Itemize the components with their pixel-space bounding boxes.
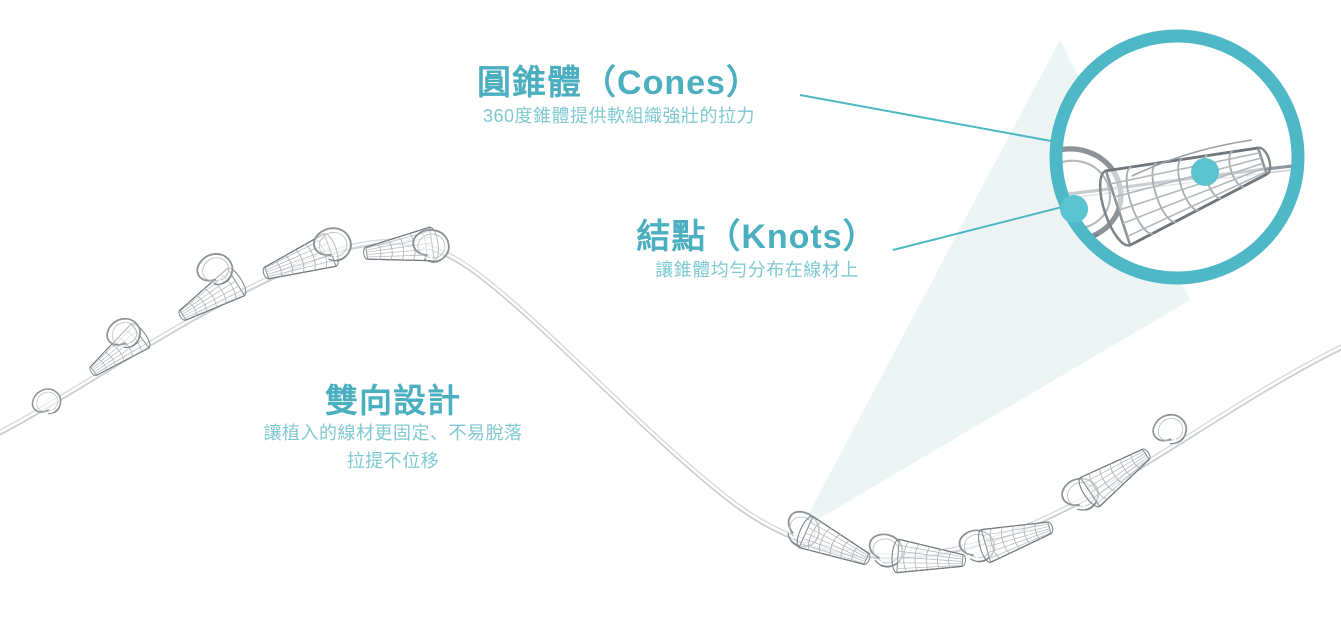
cone-marker-dot — [1191, 158, 1219, 186]
knots-annotation: 結點（Knots） 讓錐體均勻分布在線材上 — [592, 218, 922, 285]
thread-product-diagram: 圓錐體（Cones） 360度錐體提供軟組織強壯的拉力 結點（Knots） 讓錐… — [0, 0, 1341, 632]
knots-subtitle: 讓錐體均勻分布在線材上 — [592, 257, 922, 285]
knots-title: 結點（Knots） — [592, 218, 922, 257]
cones-annotation: 圓錐體（Cones） 360度錐體提供軟組織強壯的拉力 — [444, 64, 794, 131]
bidirectional-subtitle-line1: 讓植入的線材更固定、不易脫落 — [193, 420, 593, 448]
bidirectional-subtitle-line2: 拉提不位移 — [193, 448, 593, 476]
bidirectional-annotation: 雙向設計 讓植入的線材更固定、不易脫落 拉提不位移 — [193, 382, 593, 476]
cones-subtitle: 360度錐體提供軟組織強壯的拉力 — [444, 103, 794, 131]
cones-title: 圓錐體（Cones） — [444, 64, 794, 103]
bidirectional-title: 雙向設計 — [193, 382, 593, 420]
knot-marker-dot — [1060, 195, 1088, 223]
